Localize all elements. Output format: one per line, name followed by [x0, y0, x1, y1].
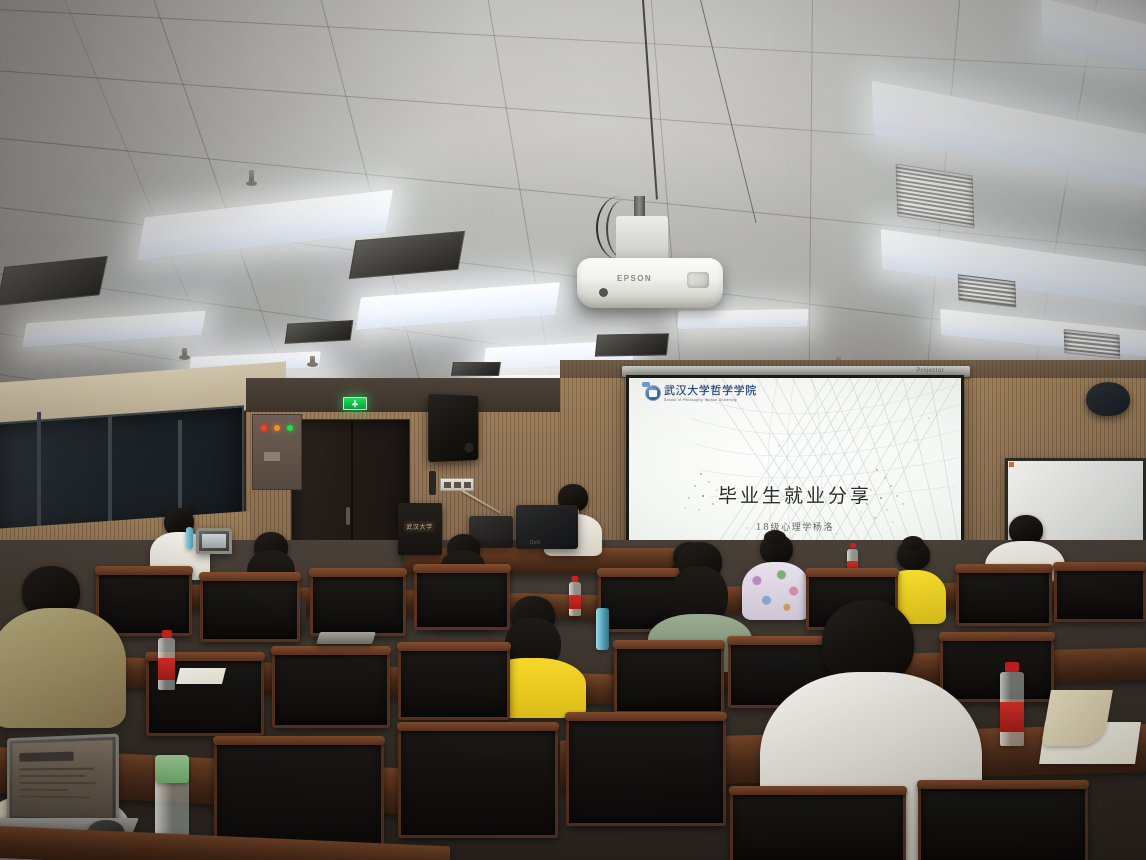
projector: EPSON	[577, 258, 723, 308]
slide-title: 毕业生就业分享	[629, 481, 961, 508]
hvac-diffuser-vent	[896, 163, 975, 228]
water-bottle	[158, 638, 175, 690]
ceiling-light-panel	[22, 311, 206, 348]
wall-conduit-box	[429, 471, 436, 495]
projector-lens	[687, 272, 709, 288]
hvac-diffuser-vent	[1064, 329, 1121, 359]
door-handle[interactable]	[346, 507, 350, 525]
hvac-vent	[595, 333, 669, 356]
control-switch[interactable]	[264, 452, 280, 461]
slide-logo-english: School of Philosophy, Wuhan University	[664, 398, 757, 402]
slide-subtitle: 18级心理学杨洛	[629, 520, 961, 533]
front-wall-dark-band	[246, 378, 586, 412]
slide-university-logo: 武汉大学哲学学院 School of Philosophy, Wuhan Uni…	[645, 385, 757, 402]
projector-sensor	[599, 288, 608, 297]
chair[interactable]	[730, 790, 906, 860]
tumbler-lid	[155, 755, 189, 783]
person-attendee-2	[0, 566, 130, 736]
exit-sign	[343, 397, 367, 410]
wall-control-panel[interactable]	[252, 414, 302, 490]
chair[interactable]	[200, 576, 300, 642]
ceiling-light-panel	[356, 282, 560, 330]
chair[interactable]	[310, 572, 406, 636]
chair[interactable]	[398, 646, 510, 720]
wall-speaker-left	[428, 394, 478, 462]
wall-socket-strip[interactable]	[440, 478, 474, 491]
water-bottle	[1000, 672, 1024, 746]
chair[interactable]	[398, 726, 558, 838]
chair[interactable]	[272, 650, 390, 728]
projector-mount-bracket	[616, 216, 668, 262]
sprinkler-head	[182, 348, 187, 357]
hvac-vent	[349, 231, 465, 279]
indicator-led-red	[261, 425, 267, 431]
laptop[interactable]	[196, 528, 232, 554]
chair[interactable]	[1054, 566, 1146, 622]
window-mullion	[37, 412, 41, 536]
lecture-hall-photo: EPSON Projector	[0, 0, 1146, 860]
notebook	[176, 668, 226, 684]
tablet-device[interactable]	[316, 632, 376, 644]
hvac-vent	[0, 256, 108, 306]
chair[interactable]	[566, 716, 726, 826]
screen-housing-label: Projector	[916, 368, 944, 374]
ceiling-light-panel	[1041, 0, 1146, 70]
attendee-torso	[0, 608, 126, 728]
university-crest-icon	[645, 385, 661, 401]
thermos-bottle	[186, 527, 193, 549]
hvac-vent	[285, 320, 354, 344]
presenter-monitor: Dell	[516, 505, 578, 549]
slide-logo-chinese: 武汉大学哲学学院	[664, 385, 757, 396]
sprinkler-head	[249, 170, 254, 183]
indicator-led-green	[287, 425, 293, 431]
thermos-bottle	[596, 608, 609, 650]
wall-speaker-right	[1086, 382, 1130, 416]
hvac-vent	[451, 362, 501, 376]
podium-plate: 武汉大学	[404, 521, 435, 532]
laptop[interactable]	[7, 734, 119, 827]
chair[interactable]	[614, 644, 724, 714]
indicator-led-orange	[274, 425, 280, 431]
chair[interactable]	[918, 784, 1088, 860]
projector-brand-label: EPSON	[617, 274, 652, 283]
ceiling	[0, 0, 1146, 395]
ceiling-light-panel	[677, 309, 809, 329]
sprinkler-head	[310, 356, 315, 364]
